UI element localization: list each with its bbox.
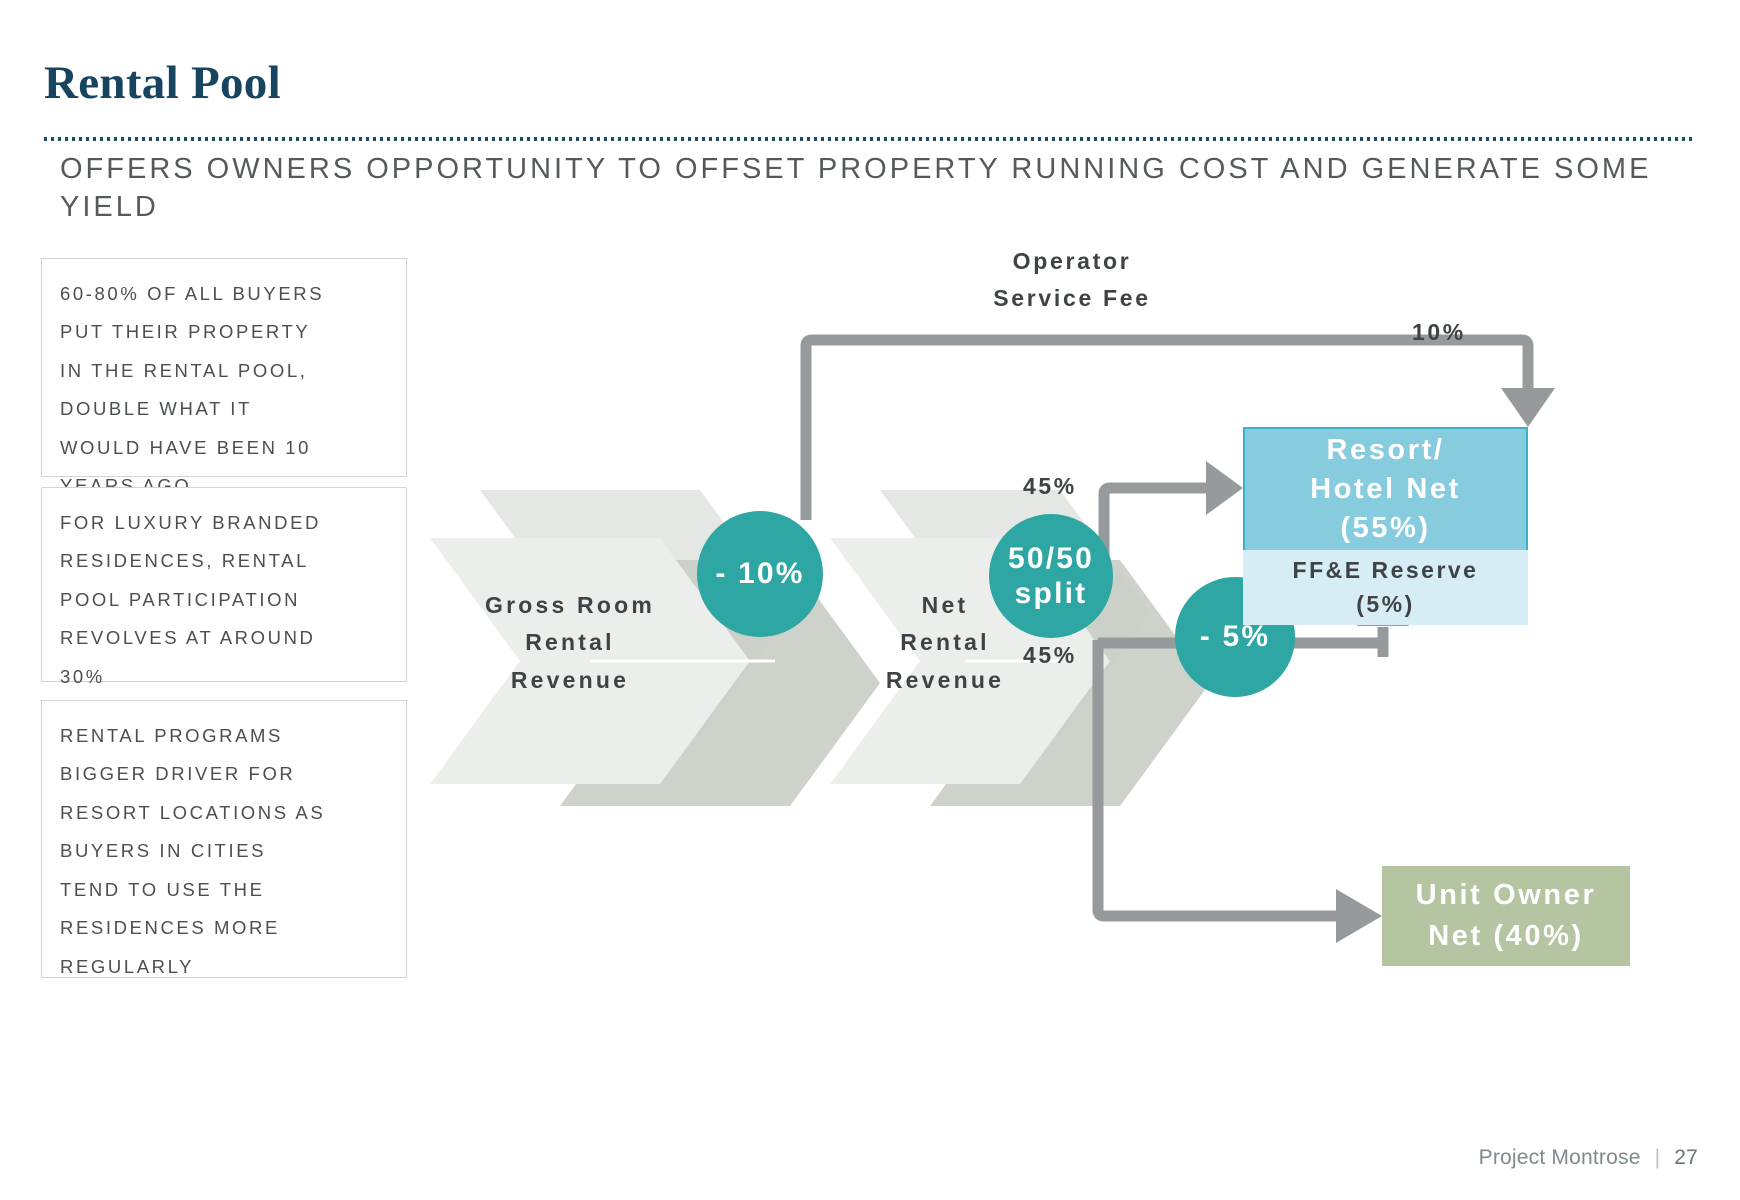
unit-owner-arrowhead — [1336, 889, 1382, 943]
slide-footer: Project Montrose | 27 — [1479, 1146, 1698, 1170]
slide: Rental Pool OFFERS OWNERS OPPORTUNITY TO… — [0, 0, 1740, 1200]
box-ffe-reserve: FF&E Reserve (5%) — [1243, 550, 1528, 625]
ffe-deduct-path — [1290, 637, 1383, 652]
ffe-vertical-stem — [1378, 627, 1389, 657]
operator-service-fee-label: Operator Service Fee — [912, 243, 1232, 318]
circle-50-50-split: 50/50 split — [989, 514, 1113, 638]
box-unit-owner-net: Unit Owner Net (40%) — [1382, 866, 1630, 966]
footer-page-number: 27 — [1674, 1146, 1698, 1170]
split-upper-arrowhead — [1206, 461, 1243, 515]
chevron-label-gross-room-rental-revenue: Gross Room Rental Revenue — [460, 587, 680, 699]
box-resort-hotel-net: Resort/ Hotel Net (55%) — [1243, 427, 1528, 550]
circle-operator-fee-minus-10: - 10% — [697, 511, 823, 637]
label-operator-fee-percent: 10% — [1412, 319, 1466, 346]
label-split-lower-percent: 45% — [1023, 642, 1077, 669]
footer-separator: | — [1655, 1146, 1661, 1170]
rental-pool-flow-diagram: Gross Room Rental Revenue Net Rental Rev… — [0, 0, 1740, 1200]
footer-project-name: Project Montrose — [1479, 1146, 1641, 1170]
operator-fee-arrowhead — [1501, 388, 1555, 427]
label-split-upper-percent: 45% — [1023, 473, 1077, 500]
